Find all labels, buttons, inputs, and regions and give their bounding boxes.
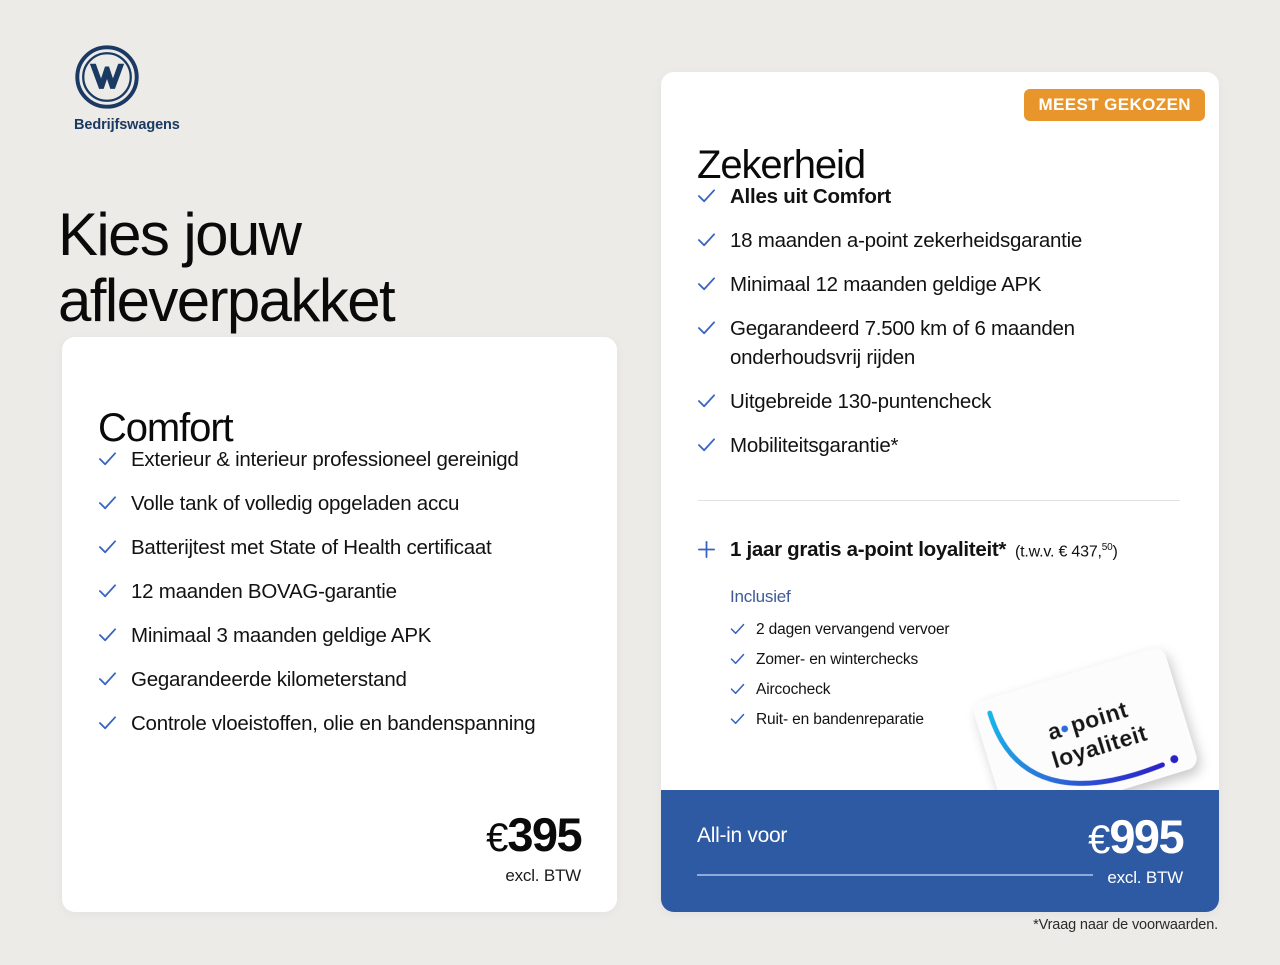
status-badge: MEEST GEKOZEN — [1024, 89, 1205, 121]
page-title: Kies jouw afleverpakket — [58, 202, 394, 334]
package-card-zekerheid[interactable]: MEEST GEKOZEN Zekerheid Alles uit Comfor… — [661, 72, 1219, 912]
feature-item: Batterijtest met State of Health certifi… — [98, 533, 578, 562]
feature-item: Gegarandeerde kilometerstand — [98, 665, 578, 694]
check-icon — [697, 436, 716, 455]
feature-item: Minimaal 3 maanden geldige APK — [98, 621, 578, 650]
plus-icon — [697, 540, 716, 559]
check-icon — [730, 712, 745, 727]
feature-label: Controle vloeistoffen, olie en bandenspa… — [131, 709, 535, 738]
list-item-label: Aircocheck — [756, 679, 830, 700]
check-icon — [697, 231, 716, 250]
check-icon — [98, 538, 117, 557]
check-icon — [730, 682, 745, 697]
price-note: excl. BTW — [1088, 868, 1183, 888]
check-icon — [730, 652, 745, 667]
footer-divider — [697, 874, 1093, 876]
feature-item: Mobiliteitsgarantie* — [697, 431, 1187, 460]
footnote: *Vraag naar de voorwaarden. — [1033, 917, 1218, 933]
section-divider — [698, 500, 1180, 501]
price-block-comfort: €395 excl. BTW — [486, 810, 581, 886]
brand-wordmark: Bedrijfswagens — [74, 117, 292, 133]
check-icon — [98, 582, 117, 601]
list-item: 2 dagen vervangend vervoer — [730, 619, 1197, 640]
feature-item: 18 maanden a-point zekerheidsgarantie — [697, 226, 1187, 255]
feature-label: Minimaal 3 maanden geldige APK — [131, 621, 431, 650]
feature-list-zekerheid: Alles uit Comfort 18 maanden a-point zek… — [697, 182, 1187, 475]
check-icon — [98, 714, 117, 733]
list-item-label: Ruit- en bandenreparatie — [756, 709, 924, 730]
feature-label: Exterieur & interieur professioneel gere… — [131, 445, 519, 474]
feature-label: 12 maanden BOVAG-garantie — [131, 577, 397, 606]
feature-label: Gegarandeerde kilometerstand — [131, 665, 407, 694]
price-amount: €995 — [1088, 812, 1183, 865]
price-block-zekerheid: €995 excl. BTW — [1088, 812, 1183, 888]
list-item: Zomer- en winterchecks — [730, 649, 1197, 670]
price-footer-zekerheid: All-in voor €995 excl. BTW — [661, 790, 1219, 912]
feature-item: Alles uit Comfort — [697, 182, 1187, 211]
check-icon — [697, 275, 716, 294]
check-icon — [98, 494, 117, 513]
check-icon — [730, 622, 745, 637]
check-icon — [98, 626, 117, 645]
inclusief-label: Inclusief — [730, 587, 1197, 607]
allin-label: All-in voor — [697, 824, 787, 848]
feature-label: Alles uit Comfort — [730, 182, 891, 211]
check-icon — [98, 670, 117, 689]
list-item-label: Zomer- en winterchecks — [756, 649, 918, 670]
currency-symbol: € — [1088, 818, 1109, 862]
feature-item: Volle tank of volledig opgeladen accu — [98, 489, 578, 518]
feature-list-comfort: Exterieur & interieur professioneel gere… — [98, 445, 578, 753]
feature-label: 18 maanden a-point zekerheidsgarantie — [730, 226, 1082, 255]
loyalty-value-prefix: (t.w.v. € 437, — [1015, 543, 1102, 560]
feature-label: Minimaal 12 maanden geldige APK — [730, 270, 1041, 299]
list-item: Ruit- en bandenreparatie — [730, 709, 1197, 730]
loyalty-value: (t.w.v. € 437,50) — [1015, 542, 1118, 561]
list-item-label: 2 dagen vervangend vervoer — [756, 619, 949, 640]
feature-item: Exterieur & interieur professioneel gere… — [98, 445, 578, 474]
feature-item: Gegarandeerd 7.500 km of 6 maanden onder… — [697, 314, 1187, 372]
loyalty-title: 1 jaar gratis a-point loyaliteit* — [730, 538, 1006, 562]
check-icon — [697, 319, 716, 338]
loyalty-benefit-list: 2 dagen vervangend vervoer Zomer- en win… — [730, 619, 1197, 730]
loyalty-section: 1 jaar gratis a-point loyaliteit* (t.w.v… — [697, 537, 1197, 739]
price-value: 395 — [507, 808, 581, 861]
feature-label: Volle tank of volledig opgeladen accu — [131, 489, 459, 518]
brand-block: Bedrijfswagens — [62, 44, 292, 133]
feature-item: Controle vloeistoffen, olie en bandenspa… — [98, 709, 578, 738]
list-item: Aircocheck — [730, 679, 1197, 700]
package-card-comfort[interactable]: Comfort Exterieur & interieur profession… — [62, 337, 617, 912]
feature-item: 12 maanden BOVAG-garantie — [98, 577, 578, 606]
feature-item: Minimaal 12 maanden geldige APK — [697, 270, 1187, 299]
feature-item: Uitgebreide 130-puntencheck — [697, 387, 1187, 416]
feature-label: Batterijtest met State of Health certifi… — [131, 533, 491, 562]
price-amount: €395 — [486, 810, 581, 863]
loyalty-value-cents: 50 — [1102, 542, 1113, 553]
check-icon — [98, 450, 117, 469]
price-note: excl. BTW — [486, 866, 581, 886]
loyalty-heading: 1 jaar gratis a-point loyaliteit* (t.w.v… — [697, 537, 1197, 562]
check-icon — [697, 187, 716, 206]
vw-logo-icon — [74, 44, 140, 110]
check-icon — [697, 392, 716, 411]
currency-symbol: € — [486, 816, 507, 860]
price-value: 995 — [1109, 810, 1183, 863]
feature-label: Gegarandeerd 7.500 km of 6 maanden onder… — [730, 314, 1187, 372]
loyalty-value-suffix: ) — [1113, 543, 1118, 560]
feature-label: Mobiliteitsgarantie* — [730, 431, 898, 460]
feature-label: Uitgebreide 130-puntencheck — [730, 387, 991, 416]
poster-canvas: Bedrijfswagens Kies jouw afleverpakket C… — [0, 0, 1280, 965]
